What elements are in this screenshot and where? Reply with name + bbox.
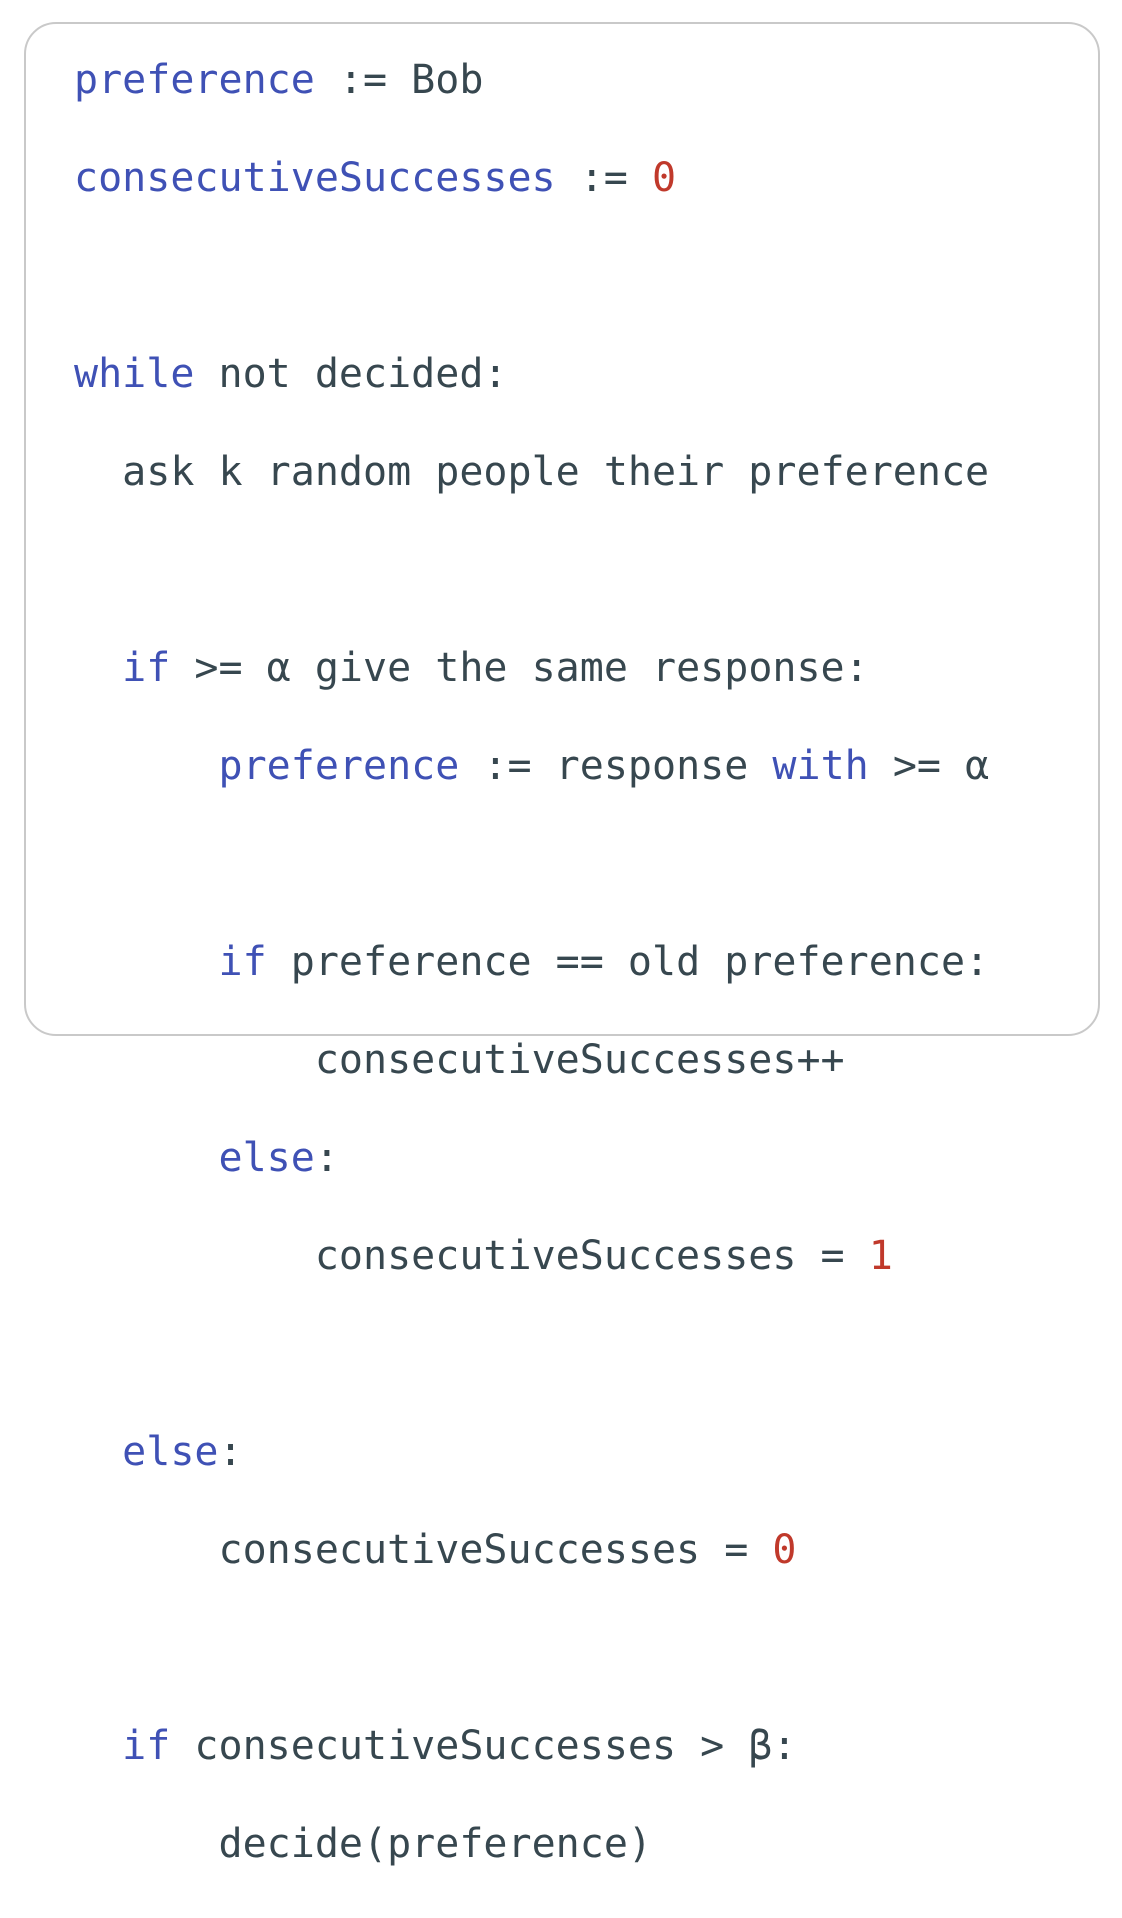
code-token-num: 0 [772,1527,796,1573]
code-token-txt: : [219,1429,243,1475]
code-token-txt: : [315,1135,339,1181]
code-line-4: while not decided: [74,350,1078,399]
code-line-12: else: [74,1134,1078,1183]
code-token-txt: >= α give the same response: [170,645,868,691]
code-line-6 [74,546,1078,595]
code-line-19: decide(preference) [74,1820,1078,1869]
code-line-1: preference := Bob [74,56,1078,105]
code-token-txt: consecutiveSuccesses++ [315,1037,845,1083]
code-token-txt: decide(preference) [219,1821,652,1867]
code-token-txt: not decided: [194,351,507,397]
code-token-kw: while [74,351,194,397]
code-token-kw: with [772,743,868,789]
code-token-txt: >= α [869,743,989,789]
code-line-16: consecutiveSuccesses = 0 [74,1526,1078,1575]
code-token-var: consecutiveSuccesses [74,155,556,201]
code-token-txt: ask k random people their preference [122,449,989,495]
code-token-kw: else [219,1135,315,1181]
code-token-kw: else [122,1429,218,1475]
code-line-9 [74,840,1078,889]
code-token-txt: consecutiveSuccesses = [219,1527,773,1573]
code-line-18: if consecutiveSuccesses > β: [74,1722,1078,1771]
code-line-5: ask k random people their preference [74,448,1078,497]
code-line-10: if preference == old preference: [74,938,1078,987]
code-line-11: consecutiveSuccesses++ [74,1036,1078,1085]
code-token-var: preference [74,57,315,103]
code-block: preference := Bob consecutiveSuccesses :… [74,56,1078,1918]
code-token-txt: := [556,155,652,201]
code-line-15: else: [74,1428,1078,1477]
code-token-kw: if [122,1723,170,1769]
code-token-txt: consecutiveSuccesses = [315,1233,869,1279]
code-token-txt: consecutiveSuccesses > β: [170,1723,796,1769]
code-line-8: preference := response with >= α [74,742,1078,791]
code-line-14 [74,1330,1078,1379]
code-line-3 [74,252,1078,301]
code-line-7: if >= α give the same response: [74,644,1078,693]
code-token-kw: if [122,645,170,691]
code-line-17 [74,1624,1078,1673]
code-line-13: consecutiveSuccesses = 1 [74,1232,1078,1281]
code-token-num: 0 [652,155,676,201]
code-token-kw: if [219,939,267,985]
code-token-var: preference [219,743,460,789]
code-line-2: consecutiveSuccesses := 0 [74,154,1078,203]
code-token-txt: preference == old preference: [267,939,989,985]
pseudocode-card: preference := Bob consecutiveSuccesses :… [24,22,1100,1036]
code-token-txt: := response [459,743,772,789]
code-token-txt: := Bob [315,57,484,103]
code-token-num: 1 [869,1233,893,1279]
